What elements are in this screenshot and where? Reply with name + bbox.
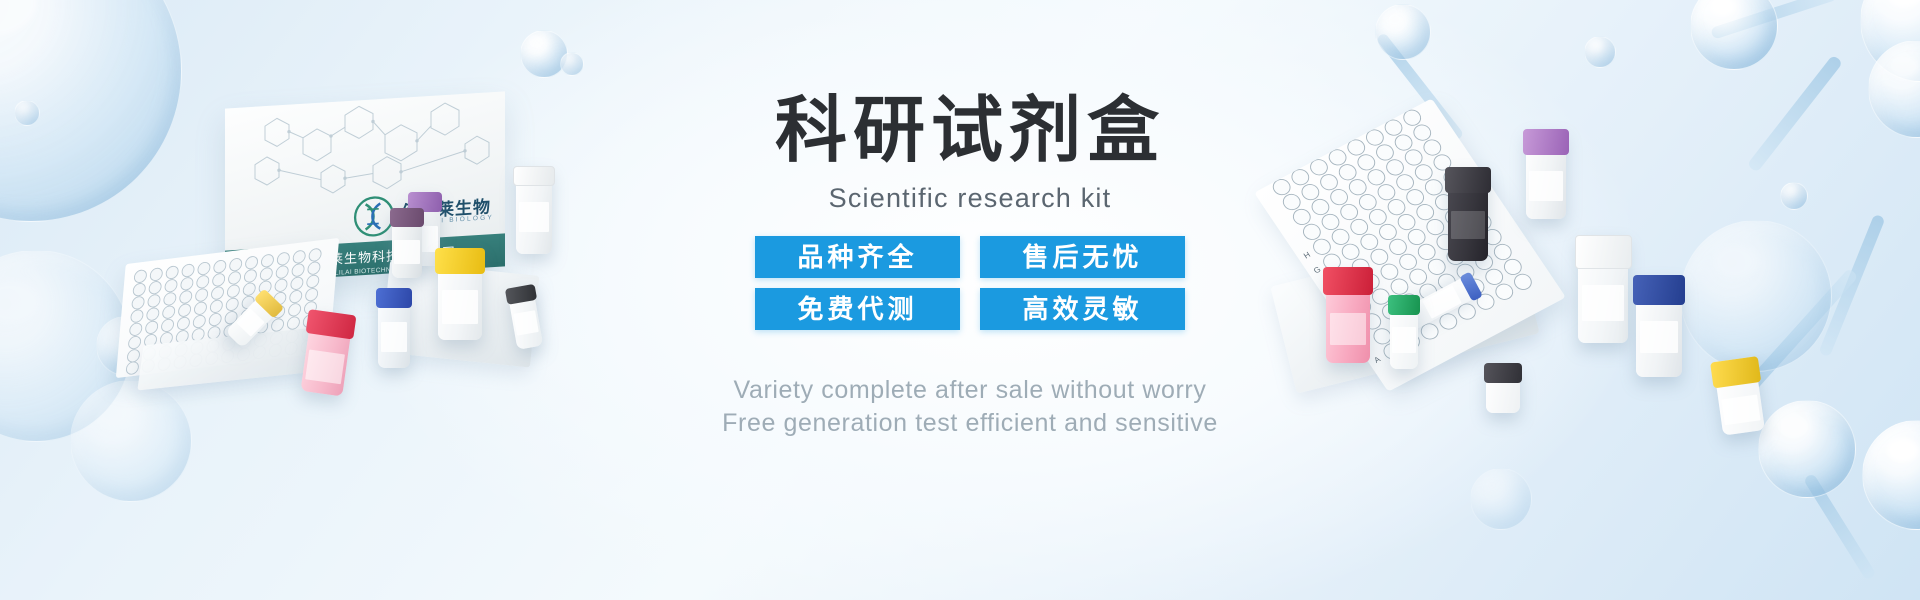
bubble-icon [70,380,192,502]
vial-label [305,350,344,385]
bottle-white-cap [516,166,552,254]
vial-dark-cap [1486,363,1520,413]
vial-cap [1633,275,1685,305]
vial-label [1640,321,1679,353]
vial-cap [390,208,424,227]
product-photo-left: 佰利莱生物 BAILILAI BIOLOGY 上海佰利莱生物科技有限公司 SHA… [120,100,560,390]
vial-cap [513,166,554,186]
vial-label [381,322,408,352]
feature-badge-variety[interactable]: 品种齐全 [755,236,960,278]
vial-cap [1484,363,1523,383]
feature-badge-after-sale[interactable]: 售后无忧 [980,236,1185,278]
molecule-bond [1803,473,1877,581]
vial-cap [376,288,412,308]
banner-text-block: 科研试剂盒 Scientific research kit 品种齐全 售后无忧 … [560,95,1380,441]
vial-blue-cap [378,288,410,368]
vial-green-cap [1390,295,1418,369]
bubble-icon [1868,40,1920,138]
banner-tagline: Variety complete after sale without worr… [560,374,1380,441]
tagline-line-2: Free generation test efficient and sensi… [560,407,1380,440]
bubble-icon [1862,420,1920,530]
vial-label [442,290,479,324]
vial-red-cap [300,309,353,396]
bubble-icon [1375,4,1431,60]
vial-yellow-cap [438,248,482,340]
banner-subtitle: Scientific research kit [560,183,1380,214]
feature-badge-sensitive[interactable]: 高效灵敏 [980,288,1185,330]
vial-label [519,202,549,232]
vial-cap [1388,295,1420,315]
molecule-bond [1710,0,1837,40]
vial-label [1529,171,1563,201]
bubble-icon [14,100,40,126]
vial-black-cap [1448,167,1488,261]
bubble-icon [0,250,132,442]
bubble-icon [560,52,584,76]
feature-badge-free-test[interactable]: 免费代测 [755,288,960,330]
vial-cap [1445,167,1491,193]
vial-purple-cap [392,208,422,278]
vial-label [1392,327,1416,353]
vial-label [1582,285,1624,321]
bubble-icon [1470,468,1532,530]
vial-label [394,240,419,264]
bubble-icon [1758,400,1856,498]
feature-badge-list: 品种齐全 售后无忧 免费代测 高效灵敏 [755,236,1185,330]
bubble-icon [1860,0,1920,82]
vial-cap [1575,235,1632,269]
vial-purple-cap [1526,129,1566,219]
molecule-bond [1818,214,1885,358]
banner-title: 科研试剂盒 [560,95,1380,167]
company-logo-icon [353,194,395,239]
tagline-line-1: Variety complete after sale without worr… [560,374,1380,407]
vial-label [1451,211,1485,239]
bubble-icon [520,30,568,78]
vial-label [513,310,538,335]
bubble-icon [1584,36,1616,68]
vial-cap [1523,129,1569,155]
bubble-icon [1690,0,1778,70]
vial-label [1722,395,1761,426]
promo-banner: 佰利莱生物 BAILILAI BIOLOGY 上海佰利莱生物科技有限公司 SHA… [0,0,1920,600]
vial-yellow-cap [1713,356,1765,435]
vial-blue-cap [1636,275,1682,377]
vial-white-cap [1578,235,1628,343]
vial-cap [435,248,485,274]
